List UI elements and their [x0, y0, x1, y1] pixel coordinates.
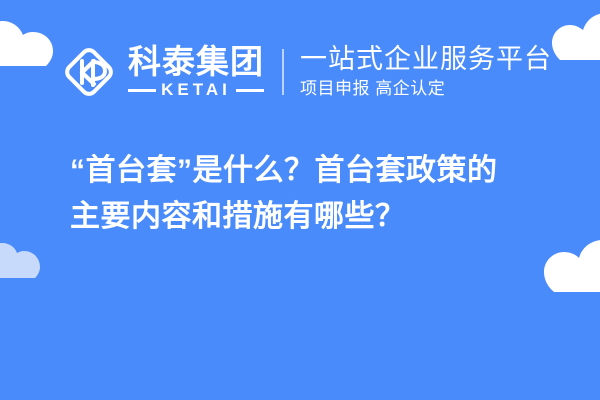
brand-name-en: KETAI: [156, 81, 236, 99]
page-title-line-2: 主要内容和措施有哪些？: [70, 194, 548, 240]
brand-name-en-row: KETAI: [128, 81, 264, 99]
header-divider: [282, 49, 284, 95]
cloud-icon-top-left: [0, 16, 60, 66]
tagline-secondary: 项目申报 高企认定: [300, 78, 552, 100]
brand-name-cn: 科泰集团: [128, 45, 264, 79]
cloud-icon-right: [544, 240, 600, 292]
brand-rule-right: [236, 89, 264, 92]
brand-rule-left: [128, 89, 156, 92]
cloud-icon-mid-left: [0, 240, 44, 278]
banner-root: 科泰集团 KETAI 一站式企业服务平台 项目申报 高企认定 “首台套”是什么？…: [0, 0, 600, 400]
page-title-line-1: “首台套”是什么？首台套政策的: [70, 148, 548, 194]
tagline-block: 一站式企业服务平台 项目申报 高企认定: [300, 44, 552, 100]
logo-wordmark: 科泰集团 KETAI: [128, 45, 264, 99]
logo-lockup[interactable]: 科泰集团 KETAI: [58, 41, 264, 103]
page-title: “首台套”是什么？首台套政策的 主要内容和措施有哪些？: [70, 148, 548, 240]
cloud-icon-top-right: [552, 12, 600, 60]
brand-header: 科泰集团 KETAI 一站式企业服务平台 项目申报 高企认定: [58, 34, 552, 110]
ketai-diamond-kp-logo-icon: [58, 41, 120, 103]
tagline-primary: 一站式企业服务平台: [300, 44, 552, 75]
